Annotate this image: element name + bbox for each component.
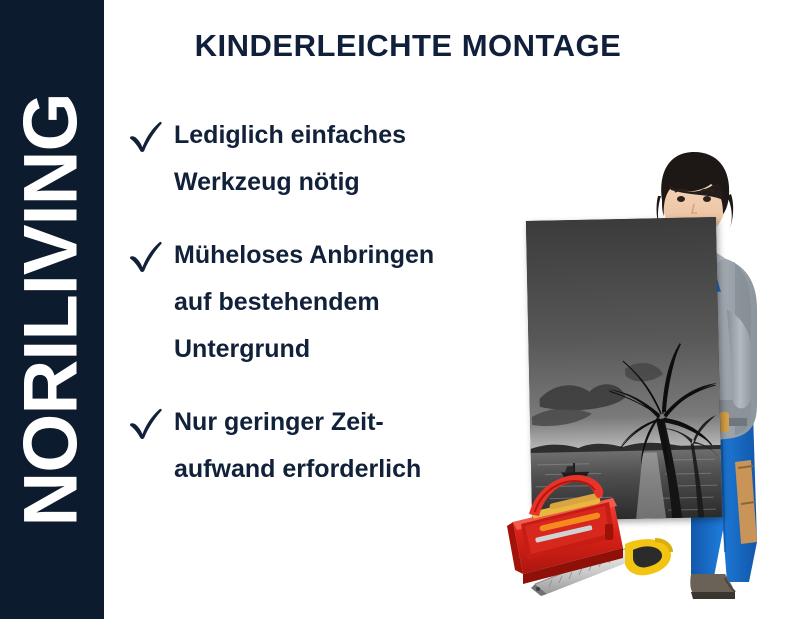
brand-name: NORILIVING	[14, 93, 90, 526]
list-item-line: Untergrund	[174, 326, 504, 373]
list-item-line: Werkzeug nötig	[174, 159, 504, 206]
brand-band: NORILIVING	[0, 0, 104, 619]
list-item-line: aufwand erforderlich	[174, 446, 504, 493]
page-title: KINDERLEICHTE MONTAGE	[128, 28, 688, 64]
promo-banner: NORILIVING KINDERLEICHTE MONTAGE Ledigli…	[0, 0, 799, 619]
check-icon	[126, 403, 166, 443]
list-item: Müheloses Anbringen auf bestehendem Unte…	[124, 232, 504, 373]
toolbox	[505, 452, 705, 602]
list-item-line: Nur geringer Zeit-	[174, 399, 504, 446]
list-item: Nur geringer Zeit- aufwand erforderlich	[124, 399, 504, 493]
list-item: Lediglich einfaches Werkzeug nötig	[124, 112, 504, 206]
check-icon	[126, 116, 166, 156]
check-icon	[126, 236, 166, 276]
benefits-list: Lediglich einfaches Werkzeug nötig Mühel…	[124, 112, 504, 493]
brand-band-inner: NORILIVING	[0, 0, 104, 619]
product-photo	[495, 112, 799, 619]
list-item-line: Müheloses Anbringen	[174, 232, 504, 279]
list-item-line: Lediglich einfaches	[174, 112, 504, 159]
list-item-line: auf bestehendem	[174, 279, 504, 326]
